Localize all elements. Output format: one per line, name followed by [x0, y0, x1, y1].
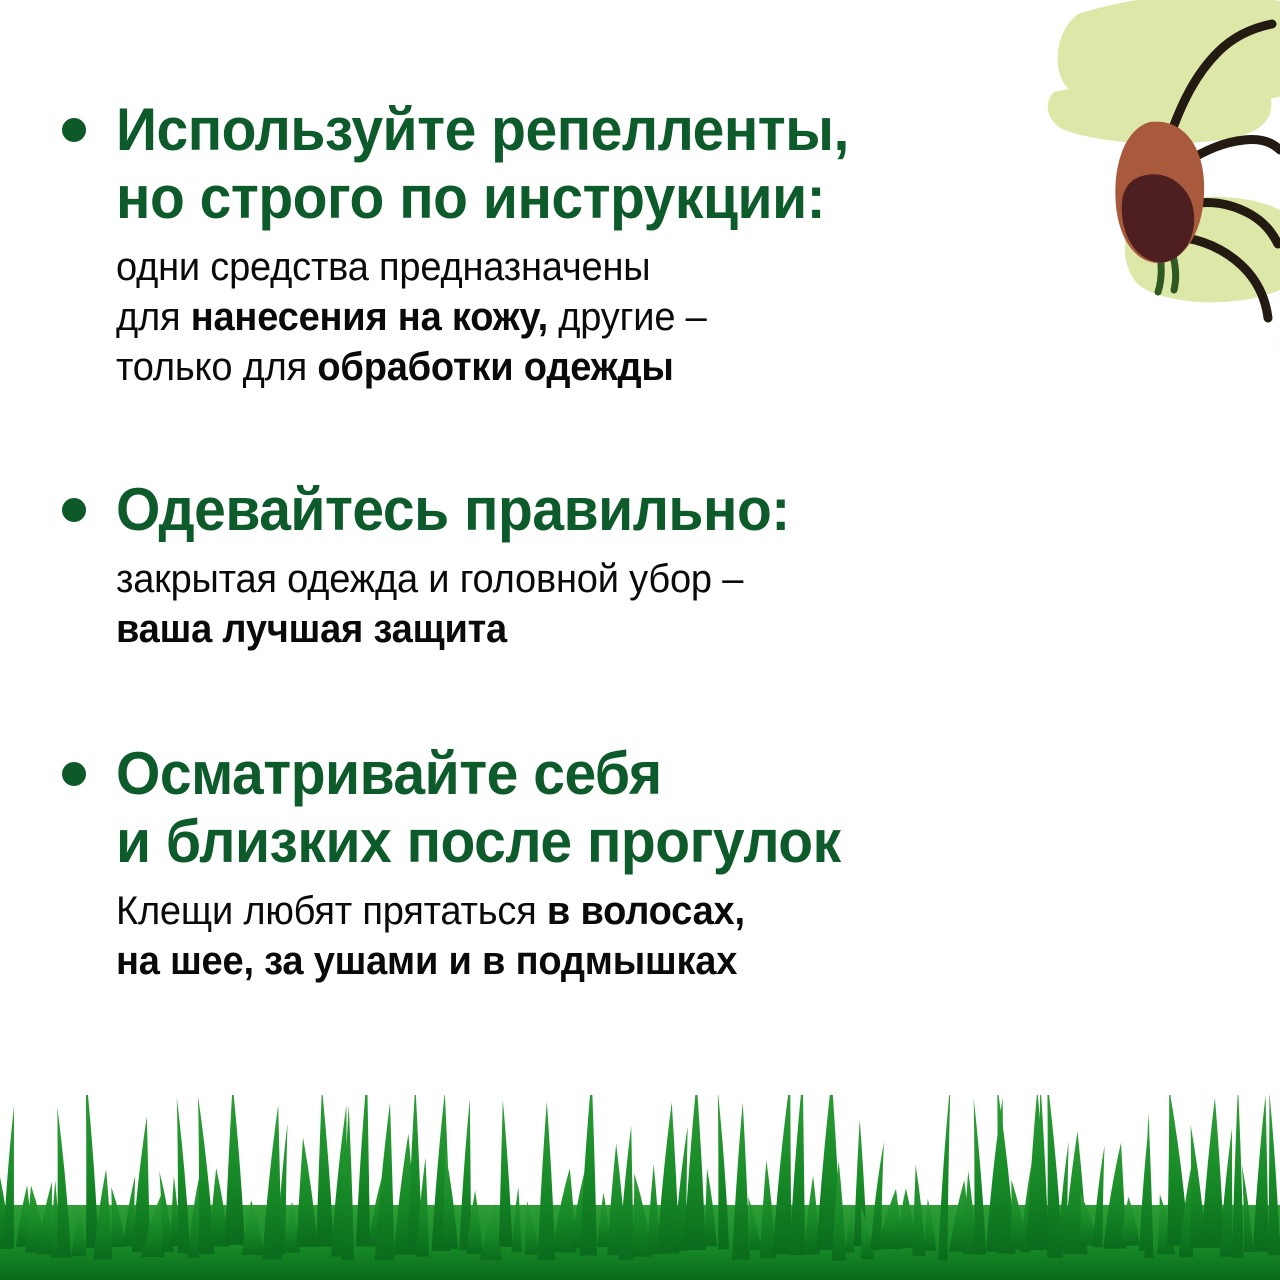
body-line: для нанесения на кожу, другие –: [116, 292, 1108, 342]
body-line: на шее, за ушами и в подмышках: [116, 936, 1108, 986]
tip-heading-row-2: Одевайтесь правильно:: [0, 476, 1160, 544]
grass-blade: [538, 1101, 556, 1260]
tip-body-2: закрытая одежда и головной убор –ваша лу…: [116, 554, 1108, 654]
tip-heading-row-3: Осматривайте себя и близких после прогул…: [0, 740, 1160, 876]
body-line: ваша лучшая защита: [116, 604, 1108, 654]
tip-block-3: Осматривайте себя и близких после прогул…: [0, 740, 1160, 986]
tick-legs: [1158, 24, 1280, 318]
body-line: закрытая одежда и головной убор –: [116, 554, 1108, 604]
grass-blade: [57, 1107, 71, 1258]
grass-blade: [356, 1095, 370, 1247]
grass-blade: [789, 1095, 805, 1255]
bullet-point-icon: [62, 118, 86, 142]
grass-blade: [3, 1105, 14, 1249]
grass-blade: [1253, 1095, 1269, 1252]
tip-block-1: Используйте репелленты, но строго по инс…: [0, 96, 1160, 392]
tip-block-2: Одевайтесь правильно: закрытая одежда и …: [0, 476, 1160, 654]
grass-blade: [499, 1100, 513, 1247]
grass-blade: [225, 1095, 245, 1245]
grass-blade: [1268, 1095, 1280, 1255]
body-line: одни средства предназначены: [116, 242, 1108, 292]
grass-border: [0, 1095, 1280, 1280]
grass-blade: [580, 1095, 598, 1256]
grass-blade: [1220, 1129, 1233, 1257]
bullet-point-icon: [62, 498, 86, 522]
grass-blade: [773, 1095, 792, 1254]
grass-blade: [296, 1138, 317, 1247]
grass-blade: [459, 1099, 471, 1251]
tip-body-1: одни средства предназначеныдля нанесения…: [116, 242, 1108, 392]
tip-heading-row-1: Используйте репелленты, но строго по инс…: [0, 96, 1160, 232]
grass-blade: [974, 1099, 986, 1255]
tip-body-3: Клещи любят прятаться в волосах,на шее, …: [116, 886, 1108, 986]
body-line: только для обработки одежды: [116, 342, 1108, 392]
grass-blade: [375, 1103, 395, 1260]
grass-blade: [1232, 1095, 1244, 1258]
bullet-point-icon: [62, 762, 86, 786]
grass-blade: [718, 1095, 729, 1249]
grass-blade: [1201, 1098, 1224, 1248]
infographic-page: nashtatarstan Используйте репелленты, но…: [0, 0, 1280, 1280]
body-line: Клещи любят прятаться в волосах,: [116, 886, 1108, 936]
grass-blade: [732, 1103, 750, 1260]
watermark-nashtatarstan: nashtatarstan: [1266, 185, 1280, 485]
grass-blade: [684, 1095, 706, 1250]
tip-heading-1: Используйте репелленты, но строго по инс…: [116, 96, 849, 232]
grass-blade: [177, 1098, 190, 1254]
tip-heading-3: Осматривайте себя и близких после прогул…: [116, 740, 841, 876]
grass-blade: [86, 1095, 99, 1248]
content-column: Используйте репелленты, но строго по инс…: [0, 0, 1160, 986]
tip-heading-2: Одевайтесь правильно:: [116, 476, 790, 544]
grass-blade: [316, 1095, 333, 1247]
